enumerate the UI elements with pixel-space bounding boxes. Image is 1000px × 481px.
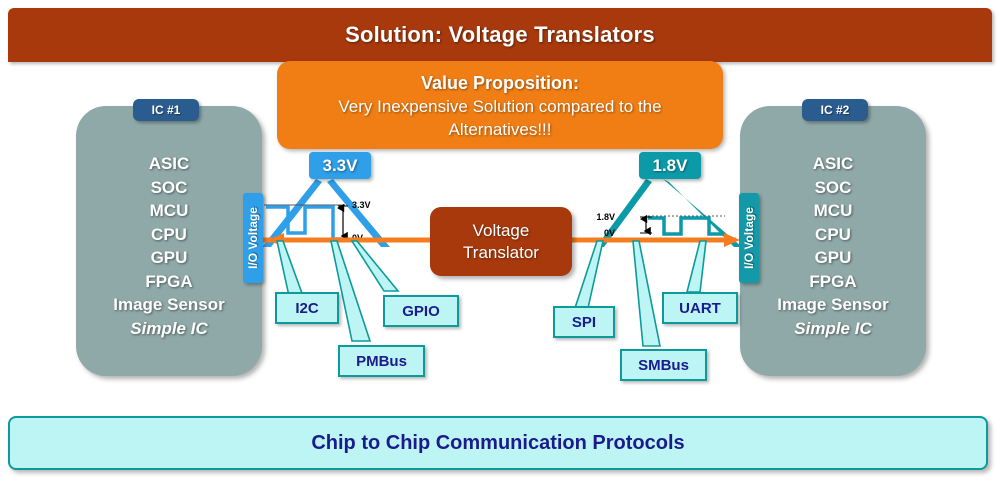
value-proposition-callout: Value Proposition: Very Inexpensive Solu…	[277, 61, 723, 149]
ic-left-item: ASIC	[76, 152, 262, 176]
protocol-label: UART	[679, 300, 721, 317]
page-title: Solution: Voltage Translators	[345, 22, 655, 48]
left-waveform-group: 3.3V 0V	[264, 200, 371, 243]
ic-left-item: FPGA	[76, 270, 262, 294]
ic-left-item: CPU	[76, 223, 262, 247]
ic-block-left: ASIC SOC MCU CPU GPU FPGA Image Sensor S…	[76, 106, 262, 376]
signal-bus-left	[252, 233, 430, 247]
voltage-translator-line2: Translator	[463, 243, 539, 262]
ic-badge-right-label: IC #2	[821, 103, 850, 117]
voltage-translator-label: Voltage Translator	[463, 220, 539, 264]
bottom-banner: Chip to Chip Communication Protocols	[8, 416, 988, 470]
voltage-translator-line1: Voltage	[473, 221, 530, 240]
ic-left-item: MCU	[76, 199, 262, 223]
signal-bus-right	[572, 233, 740, 247]
right-low-voltage-label: 0V	[604, 228, 615, 238]
ic-right-item: MCU	[740, 199, 926, 223]
right-voltage-funnel	[596, 179, 742, 247]
ic-right-item: GPU	[740, 246, 926, 270]
protocol-box-i2c: I2C	[275, 292, 339, 324]
protocol-box-smbus: SMBus	[620, 349, 707, 381]
io-voltage-tab-right: I/O Voltage	[739, 193, 759, 283]
ic-left-feature-list: ASIC SOC MCU CPU GPU FPGA Image Sensor S…	[76, 152, 262, 340]
value-proposition-body-line1: Very Inexpensive Solution compared to th…	[338, 95, 661, 118]
right-high-voltage-label: 1.8V	[596, 212, 615, 222]
slide-canvas: Solution: Voltage Translators ASIC SOC M…	[0, 0, 1000, 481]
ic-right-item: FPGA	[740, 270, 926, 294]
ic-right-item: SOC	[740, 176, 926, 200]
ic-right-feature-list: ASIC SOC MCU CPU GPU FPGA Image Sensor S…	[740, 152, 926, 340]
slide-title-banner: Solution: Voltage Translators	[8, 8, 992, 62]
protocol-label: SPI	[572, 314, 596, 331]
voltage-translator-block: Voltage Translator	[430, 207, 572, 276]
protocol-box-uart: UART	[662, 292, 738, 324]
ic-left-item: GPU	[76, 246, 262, 270]
io-voltage-tab-left-label: I/O Voltage	[246, 207, 260, 269]
ic-left-item: Simple IC	[76, 317, 262, 341]
left-low-voltage-label: 0V	[352, 233, 363, 243]
io-voltage-tab-left: I/O Voltage	[243, 193, 263, 283]
protocol-box-pmbus: PMBus	[338, 345, 425, 377]
protocol-label: PMBus	[356, 353, 407, 370]
ic-right-item: Image Sensor	[740, 293, 926, 317]
protocol-label: GPIO	[402, 303, 440, 320]
ic-right-item: Simple IC	[740, 317, 926, 341]
ic-left-item: Image Sensor	[76, 293, 262, 317]
protocol-label: SMBus	[638, 357, 689, 374]
left-callout-tails	[277, 241, 398, 341]
protocol-label: I2C	[295, 300, 318, 317]
voltage-badge-left: 3.3V	[309, 152, 371, 179]
ic-left-item: SOC	[76, 176, 262, 200]
ic-badge-right: IC #2	[802, 99, 868, 121]
voltage-badge-right-label: 1.8V	[653, 156, 688, 176]
bottom-banner-label: Chip to Chip Communication Protocols	[311, 432, 684, 455]
left-voltage-funnel	[262, 179, 390, 247]
value-proposition-heading: Value Proposition:	[421, 72, 579, 95]
io-voltage-tab-right-label: I/O Voltage	[742, 207, 756, 269]
value-proposition-body-line2: Alternatives!!!	[449, 118, 552, 141]
ic-badge-left: IC #1	[133, 99, 199, 121]
protocol-box-spi: SPI	[553, 306, 615, 338]
ic-badge-left-label: IC #1	[152, 103, 181, 117]
left-high-voltage-label: 3.3V	[352, 200, 371, 210]
ic-block-right: ASIC SOC MCU CPU GPU FPGA Image Sensor S…	[740, 106, 926, 376]
protocol-box-gpio: GPIO	[383, 295, 459, 327]
right-waveform-group: 1.8V 0V	[596, 212, 725, 238]
voltage-badge-left-label: 3.3V	[323, 156, 358, 176]
ic-right-item: ASIC	[740, 152, 926, 176]
voltage-badge-right: 1.8V	[639, 152, 701, 179]
ic-right-item: CPU	[740, 223, 926, 247]
